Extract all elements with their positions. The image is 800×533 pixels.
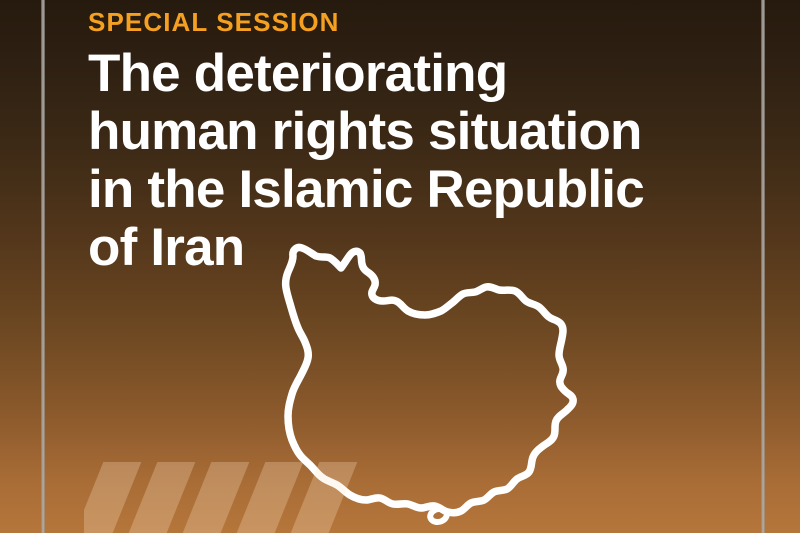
left-vertical-rule xyxy=(41,0,45,533)
headline-line-3: in the Islamic Republic xyxy=(88,161,728,219)
poster-text-block: SPECIAL SESSION The deteriorating human … xyxy=(88,6,728,278)
page-title: The deteriorating human rights situation… xyxy=(88,45,728,278)
right-vertical-rule xyxy=(761,0,765,533)
headline-line-2: human rights situation xyxy=(88,103,728,161)
iran-island-path xyxy=(430,509,447,522)
diagonal-stripe-motif xyxy=(84,462,362,533)
headline-line-4: of Iran xyxy=(88,219,728,277)
poster-canvas: SPECIAL SESSION The deteriorating human … xyxy=(0,0,800,533)
headline-line-1: The deteriorating xyxy=(88,45,728,103)
eyebrow-label: SPECIAL SESSION xyxy=(88,6,728,39)
